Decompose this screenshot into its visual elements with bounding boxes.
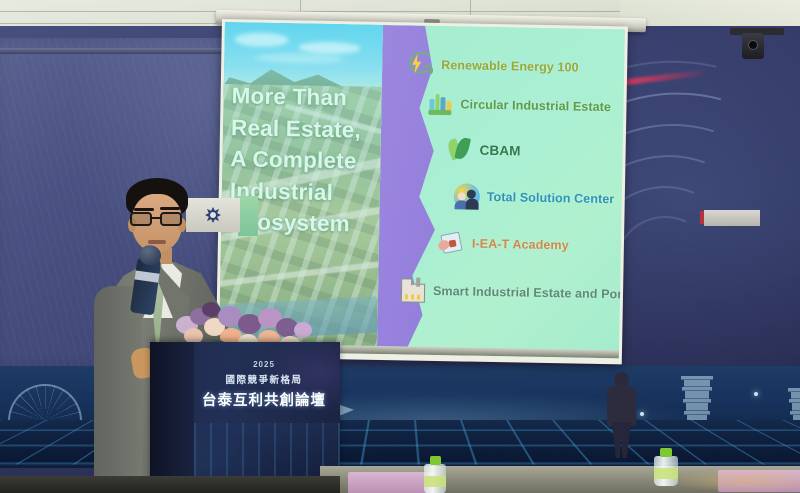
slide-bullet-item: I-EA-T Academy [439,230,569,258]
water-bottle [424,456,446,493]
factory-icon [400,277,426,303]
slide-bullet-label: Total Solution Center [487,190,615,206]
table-warm-light [670,468,800,493]
wall-rail [0,48,240,54]
slide-bullet-label: Smart Industrial Estate and Port [433,284,625,302]
podium: 2025 國際競爭新格局 台泰互利共創論壇 [150,342,340,493]
arm-left [94,286,142,486]
podium-signage: 2025 國際競爭新格局 台泰互利共創論壇 [194,360,334,410]
mouth [148,240,166,244]
podium-subtitle: 國際競爭新格局 [194,372,334,386]
wall-green-strip [238,196,258,236]
slide-bullet-item: Smart Industrial Estate and Port [400,277,625,307]
people-group-icon [454,183,480,209]
slide-title-line: Real Estate, [231,112,382,146]
standing-person-silhouette [600,372,642,456]
foreground-table-left [0,476,340,493]
conference-photo-scene: More Than Real Estate, A Complete Indust… [0,0,800,493]
eyebrow [160,207,180,210]
wall-plate [704,210,760,226]
slide-bullet-item: Total Solution Center [454,183,615,212]
leaf-icon [446,136,472,162]
slide-bullet-label: Renewable Energy 100 [441,58,579,75]
eyebrow [134,208,154,211]
slide-bullet-label: Circular Industrial Estate [460,97,611,114]
renewable-energy-icon [408,51,434,77]
podium-year: 2025 [194,360,334,369]
pagoda-landmark [786,388,800,466]
slide-bullet-item: Renewable Energy 100 [408,51,579,80]
circular-economy-icon [427,91,453,117]
projector-lens-icon [748,40,758,50]
slide-title-line: More Than [231,80,382,114]
slide-bullet-item: CBAM [446,136,520,163]
slide-bullet-item: Circular Industrial Estate [427,91,611,120]
slide-title-line: A Complete [230,143,381,177]
slide-bullet-label: I-EA-T Academy [472,237,569,253]
podium-event-title: 台泰互利共創論壇 [194,389,334,410]
tablet-learning-icon [439,230,465,256]
slide-bullet-label: CBAM [480,142,521,158]
eyeglasses-icon [130,212,184,227]
name-placard [348,472,434,493]
slide-bullet-list: Renewable Energy 100 Circular Industrial… [379,25,625,358]
